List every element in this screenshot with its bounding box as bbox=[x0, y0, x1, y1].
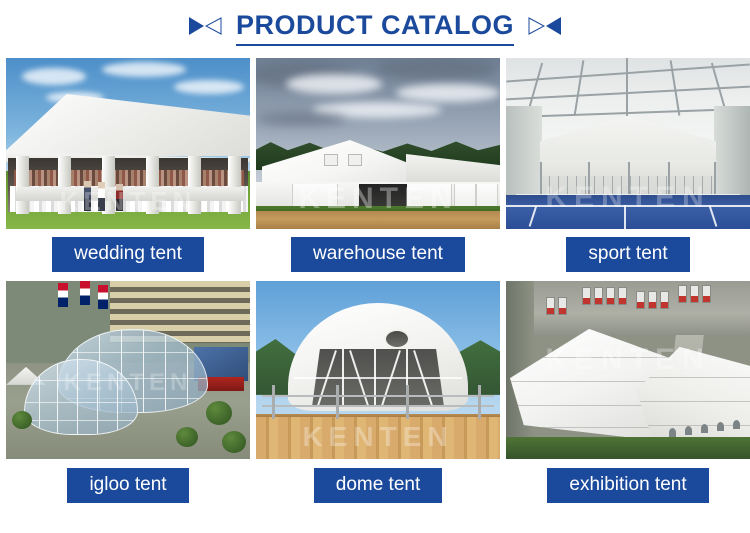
right-decoration bbox=[528, 17, 561, 35]
exhibition-tent-photo[interactable]: KENTEN bbox=[506, 281, 750, 459]
catalog-item-label[interactable]: exhibition tent bbox=[547, 468, 708, 503]
outline-triangle-right-icon bbox=[528, 17, 545, 35]
left-decoration bbox=[189, 17, 222, 35]
sport-tent-photo[interactable]: KENTEN bbox=[506, 58, 750, 229]
wedding-tent-photo[interactable]: KENTEN bbox=[6, 58, 250, 229]
title-underline bbox=[236, 44, 514, 46]
product-catalog-grid: KENTEN wedding tent KENTEN w bbox=[0, 58, 750, 513]
catalog-item-label[interactable]: dome tent bbox=[314, 468, 443, 503]
catalog-item-dome-tent[interactable]: KENTEN dome tent bbox=[256, 281, 500, 513]
catalog-item-label[interactable]: igloo tent bbox=[67, 468, 188, 503]
outline-triangle-left-icon bbox=[205, 17, 222, 35]
dome-tent-photo[interactable]: KENTEN bbox=[256, 281, 500, 459]
catalog-item-igloo-tent[interactable]: KENTEN igloo tent bbox=[6, 281, 250, 513]
catalog-item-warehouse-tent[interactable]: KENTEN warehouse tent bbox=[256, 58, 500, 281]
catalog-item-label[interactable]: sport tent bbox=[566, 237, 689, 272]
page-title: PRODUCT CATALOG bbox=[236, 12, 514, 46]
solid-triangle-left-icon bbox=[546, 17, 561, 35]
catalog-item-sport-tent[interactable]: KENTEN sport tent bbox=[506, 58, 750, 281]
catalog-item-exhibition-tent[interactable]: KENTEN exhibition tent bbox=[506, 281, 750, 513]
catalog-item-wedding-tent[interactable]: KENTEN wedding tent bbox=[6, 58, 250, 281]
catalog-title-text: PRODUCT CATALOG bbox=[236, 12, 514, 39]
solid-triangle-right-icon bbox=[189, 17, 204, 35]
catalog-item-label[interactable]: wedding tent bbox=[52, 237, 204, 272]
warehouse-tent-photo[interactable]: KENTEN bbox=[256, 58, 500, 229]
catalog-item-label[interactable]: warehouse tent bbox=[291, 237, 465, 272]
catalog-header: PRODUCT CATALOG bbox=[0, 0, 750, 58]
igloo-tent-photo[interactable]: KENTEN bbox=[6, 281, 250, 459]
